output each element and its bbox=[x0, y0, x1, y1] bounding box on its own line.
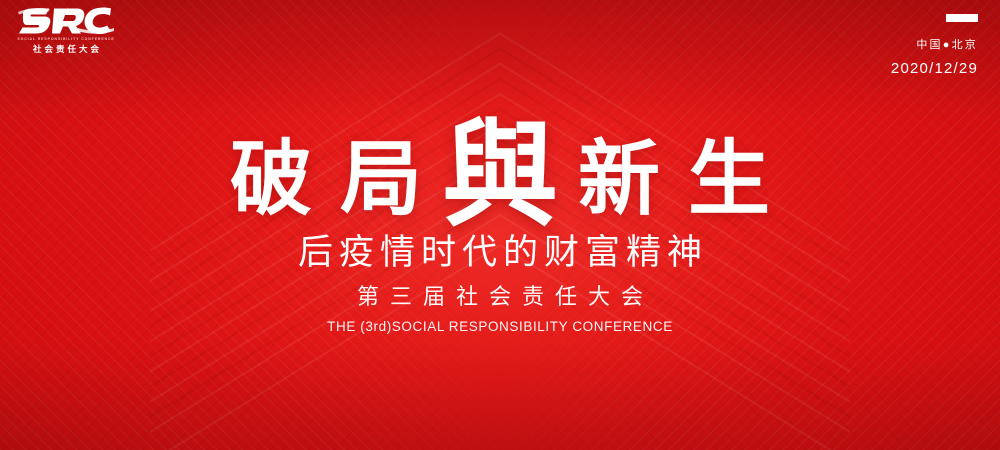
logo-english-name: SOCIAL RESPONSIBILITY CONFERENCE bbox=[17, 37, 115, 42]
poster-edition-line: 第三届社会责任大会 bbox=[0, 286, 1000, 310]
main-title-char-4: 生 bbox=[688, 141, 770, 220]
main-title-char-3: 新 bbox=[578, 141, 660, 220]
main-title-char-1: 局 bbox=[340, 141, 422, 220]
main-title-char-2: 與 bbox=[442, 124, 558, 226]
logo-chinese-name: 社会责任大会 bbox=[18, 44, 114, 54]
meta-accent-bar bbox=[946, 14, 978, 22]
conference-poster: SOCIAL RESPONSIBILITY CONFERENCE 社会责任大会 … bbox=[0, 0, 1000, 450]
main-title-char-0: 破 bbox=[230, 141, 312, 220]
src-logo-mark bbox=[18, 6, 114, 36]
bottom-gradient-overlay bbox=[0, 340, 1000, 450]
poster-text-block: 破局與新生 后疫情时代的财富精神 第三届社会责任大会 THE (3rd)SOCI… bbox=[0, 112, 1000, 335]
event-meta: 中国●北京 2020/12/29 bbox=[891, 14, 978, 77]
src-logo: SOCIAL RESPONSIBILITY CONFERENCE 社会责任大会 bbox=[18, 6, 114, 54]
event-location: 中国●北京 bbox=[891, 36, 978, 52]
top-gradient-overlay bbox=[0, 0, 1000, 120]
event-date: 2020/12/29 bbox=[891, 60, 978, 77]
poster-english-line: THE (3rd)SOCIAL RESPONSIBILITY CONFERENC… bbox=[0, 320, 1000, 335]
main-title: 破局與新生 bbox=[0, 112, 1000, 220]
